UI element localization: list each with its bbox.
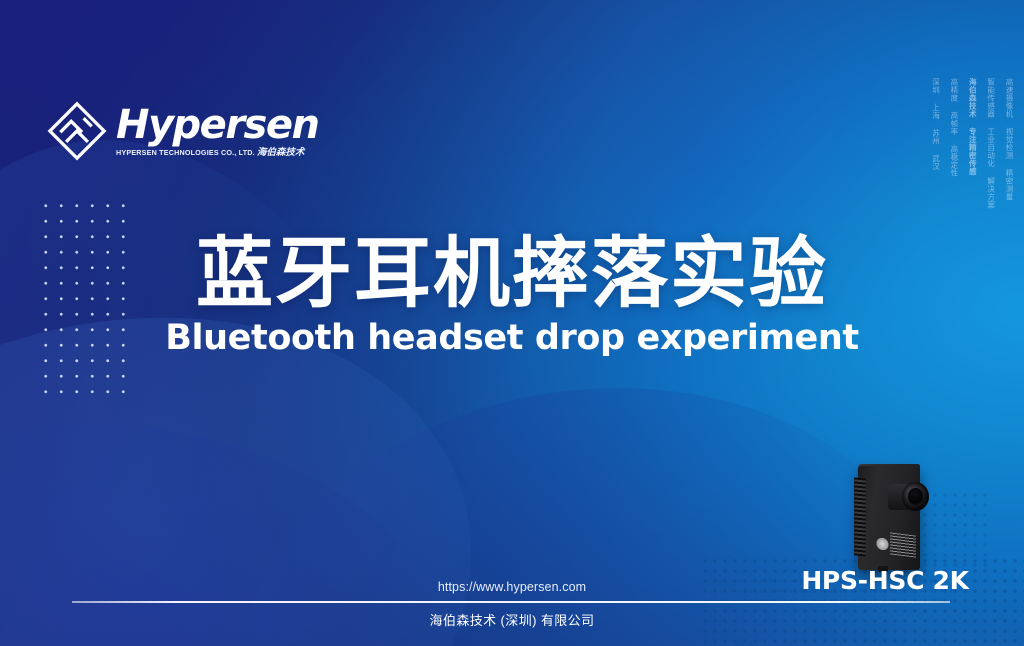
logo-wordmark: Hypersen [116, 105, 318, 145]
side-text-column-3: 海伯森技术 专注精密传感 [968, 78, 977, 538]
footer-company-name: 海伯森技术 (深圳) 有限公司 [0, 610, 1024, 629]
product-device-image [848, 462, 934, 574]
brand-logo: Hypersen HYPERSEN TECHNOLOGIES CO., LTD.… [46, 100, 318, 162]
page-title-chinese: 蓝牙耳机摔落实验 [0, 236, 1024, 313]
page-title-english: Bluetooth headset drop experiment [0, 321, 1024, 356]
device-spec-label [890, 532, 916, 557]
logo-subtitle-en: HYPERSEN TECHNOLOGIES CO., LTD. [116, 148, 255, 157]
side-text-column-4: 高精度 高帧率 高稳定性 [950, 78, 959, 538]
footer-divider [72, 601, 950, 603]
presentation-slide: Hypersen HYPERSEN TECHNOLOGIES CO., LTD.… [0, 0, 1024, 646]
side-text-column-5: 深圳 上海 苏州 武汉 [931, 78, 940, 538]
side-text-column-1: 高速摄像机 视觉检测 精密测量 [1005, 78, 1014, 538]
headline-block: 蓝牙耳机摔落实验 Bluetooth headset drop experime… [0, 236, 1024, 356]
hypersen-diamond-icon [46, 100, 108, 162]
device-heatsink-fins [854, 477, 866, 556]
device-lens [902, 482, 929, 511]
logo-subtitle-cn: 海伯森技术 [257, 147, 305, 158]
side-vertical-text: 高速摄像机 视觉检测 精密测量 智能传感器 工业自动化 解决方案 海伯森技术 专… [931, 78, 1014, 538]
side-text-column-2: 智能传感器 工业自动化 解决方案 [986, 78, 995, 538]
device-certification-badge [876, 535, 889, 553]
logo-subtitle: HYPERSEN TECHNOLOGIES CO., LTD.海伯森技术 [116, 148, 318, 158]
footer-website-url[interactable]: https://www.hypersen.com [0, 580, 1024, 594]
